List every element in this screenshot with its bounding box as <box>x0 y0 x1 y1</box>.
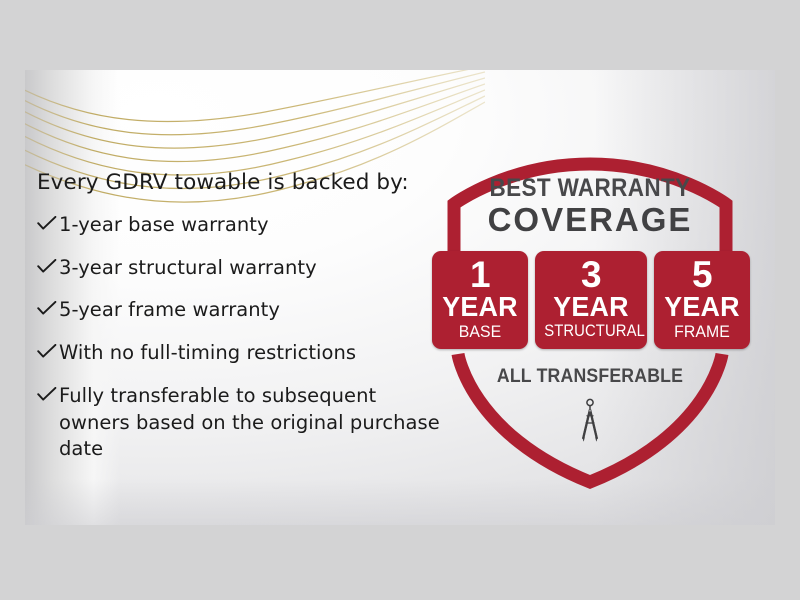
list-item: 5-year frame warranty <box>37 297 447 324</box>
tile-number: 3 <box>539 257 643 293</box>
list-item-label: With no full-timing restrictions <box>59 340 356 367</box>
list-item: 1-year base warranty <box>37 212 447 239</box>
check-icon <box>37 301 59 316</box>
warranty-copy-block: Every GDRV towable is backed by: 1-year … <box>37 170 447 479</box>
image-canvas: Every GDRV towable is backed by: 1-year … <box>0 0 800 600</box>
list-item: With no full-timing restrictions <box>37 340 447 367</box>
warranty-tile-frame: 5 YEAR FRAME <box>654 251 750 349</box>
tile-kind: STRUCTURAL <box>544 323 638 340</box>
list-item-label: 3-year structural warranty <box>59 255 317 282</box>
best-warranty-coverage-badge: BEST WARRANTY COVERAGE 1 YEAR BASE 3 YEA… <box>410 148 770 498</box>
content-panel: Every GDRV towable is backed by: 1-year … <box>25 70 775 525</box>
list-item: Fully transferable to subsequent owners … <box>37 383 447 463</box>
list-item-label: 5-year frame warranty <box>59 297 280 324</box>
tile-kind: BASE <box>439 323 521 341</box>
warranty-tile-base: 1 YEAR BASE <box>432 251 528 349</box>
tile-unit: YEAR <box>438 293 522 320</box>
page-title: Every GDRV towable is backed by: <box>37 170 447 195</box>
tile-number: 1 <box>436 257 524 293</box>
warranty-tile-structural: 3 YEAR STRUCTURAL <box>535 251 647 349</box>
tile-unit: YEAR <box>660 293 744 320</box>
tile-kind: FRAME <box>661 323 743 341</box>
check-icon <box>37 387 59 402</box>
tile-unit: YEAR <box>541 293 641 320</box>
list-item-label: 1-year base warranty <box>59 212 269 239</box>
check-icon <box>37 344 59 359</box>
check-icon <box>37 216 59 231</box>
tile-number: 5 <box>658 257 746 293</box>
list-item: 3-year structural warranty <box>37 255 447 282</box>
list-item-label: Fully transferable to subsequent owners … <box>59 383 447 463</box>
check-icon <box>37 259 59 274</box>
warranty-tiles: 1 YEAR BASE 3 YEAR STRUCTURAL 5 YEAR FRA… <box>432 251 750 349</box>
